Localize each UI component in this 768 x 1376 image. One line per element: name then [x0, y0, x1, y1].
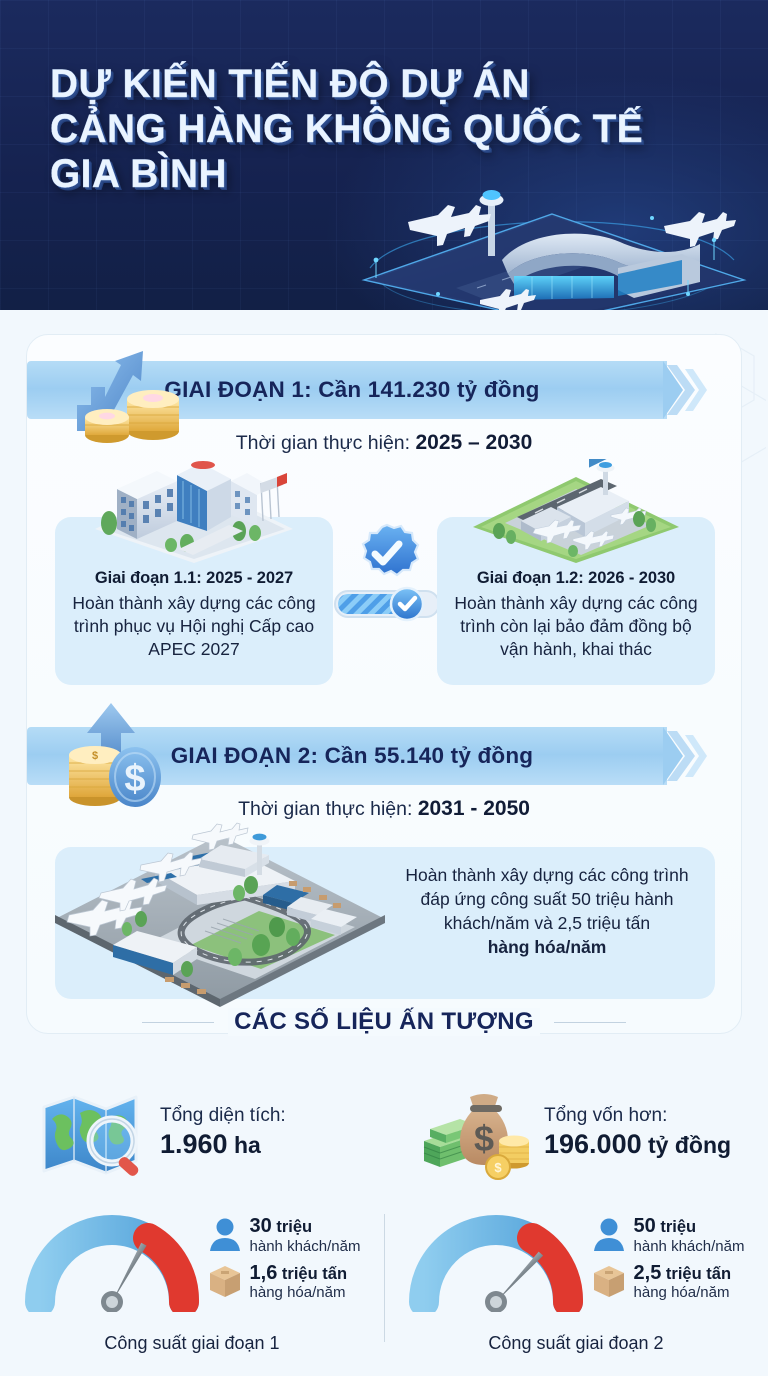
cargo-sub-1: hàng hóa/năm [250, 1284, 348, 1301]
cargo-value-1: 1,6 triệu tấn [250, 1263, 348, 1285]
divider-left [142, 1022, 214, 1023]
title-line-3: GIA BÌNH [50, 152, 643, 197]
stat-total-capital: $ $ Tổng vốn hơn: 196.000 tỷ đồng [384, 1068, 768, 1196]
banner-chevron-icon [663, 361, 689, 419]
cargo-box-icon [208, 1264, 242, 1300]
stat-total-area-value: 1.960 ha [160, 1129, 286, 1160]
cargo-box-icon-2 [592, 1264, 626, 1300]
growth-chart-coins-icon [57, 335, 197, 445]
cargo-unit-2: triệu tấn [661, 1265, 731, 1283]
divider-right [554, 1022, 626, 1023]
phase2-body-text: Hoàn thành xây dựng các công trình đáp ứ… [387, 863, 707, 960]
money-bag-cash-icon: $ $ [420, 1079, 530, 1185]
sub-phase-1-2-box: Giai đoạn 1.2: 2026 - 2030 Hoàn thành xâ… [437, 517, 715, 685]
passenger-value-1: 30 triệu [250, 1216, 361, 1238]
cargo-unit-1: triệu tấn [277, 1265, 347, 1283]
sub-phase-1-1-body: Hoàn thành xây dựng các công trình phục … [67, 592, 321, 661]
phase2-timeline-prefix: Thời gian thực hiện: [238, 798, 418, 820]
money-arrow-up-coins-icon: $ $ [51, 697, 181, 817]
office-building-isometric-icon [79, 459, 309, 567]
phase2-body-line-2: đáp ứng công suất 50 triệu hành [387, 887, 707, 911]
passenger-number-1: 30 [250, 1215, 272, 1237]
stats-section-header: CÁC SỐ LIỆU ẤN TƯỢNG [0, 1008, 768, 1036]
sub-phase-1-2-heading: Giai đoạn 1.2: 2026 - 2030 [447, 569, 705, 588]
stat-total-area: Tổng diện tích: 1.960 ha [0, 1068, 384, 1196]
svg-text:$: $ [494, 1160, 502, 1175]
sub-phase-1-2-body: Hoàn thành xây dựng các công trình còn l… [447, 592, 705, 661]
world-map-magnifier-icon [36, 1079, 146, 1185]
passenger-sub-1: hành khách/năm [250, 1238, 361, 1255]
title-line-2: CẢNG HÀNG KHÔNG QUỐC TẾ [50, 107, 643, 152]
person-icon-2 [592, 1217, 626, 1253]
speedometer-gauge-icon-2 [408, 1208, 584, 1312]
cargo-capacity-2: 2,5 triệu tấn hàng hóa/năm [592, 1263, 745, 1302]
stat-total-area-unit: ha [228, 1132, 261, 1158]
page-title: DỰ KIẾN TIẾN ĐỘ DỰ ÁN CẢNG HÀNG KHÔNG QU… [50, 62, 662, 196]
stat-total-area-label: Tổng diện tích: [160, 1105, 286, 1127]
passenger-unit-2: triệu [656, 1218, 696, 1236]
cargo-sub-2: hàng hóa/năm [634, 1284, 732, 1301]
stat-total-capital-label: Tổng vốn hơn: [544, 1105, 731, 1127]
cargo-number-2: 2,5 [634, 1262, 662, 1284]
phase2-body-line-1: Hoàn thành xây dựng các công trình [387, 863, 707, 887]
phase1-timeline-value: 2025 – 2030 [415, 431, 532, 454]
cargo-value-2: 2,5 triệu tấn [634, 1263, 732, 1285]
phase1-banner-label: GIAI ĐOẠN 1: Cần 141.230 tỷ đồng [164, 377, 539, 403]
header-banner: DỰ KIẾN TIẾN ĐỘ DỰ ÁN CẢNG HÀNG KHÔNG QU… [0, 0, 768, 310]
passenger-sub-2: hành khách/năm [634, 1238, 745, 1255]
airport-complex-isometric-icon [45, 819, 395, 1015]
capacity-row: 30 triệu hành khách/năm 1,6 [0, 1204, 768, 1364]
svg-text:$: $ [124, 758, 145, 800]
stat-total-capital-unit: tỷ đồng [642, 1132, 731, 1158]
passenger-value-2: 50 triệu [634, 1216, 745, 1238]
passenger-unit-1: triệu [272, 1218, 312, 1236]
speedometer-gauge-icon [24, 1208, 200, 1312]
phase2-body-line-3: khách/năm và 2,5 triệu tấn [387, 911, 707, 935]
phases-card: GIAI ĐOẠN 1: Cần 141.230 tỷ đồng [26, 334, 742, 1034]
stats-section-title: CÁC SỐ LIỆU ẤN TƯỢNG [228, 1008, 540, 1036]
capacity-caption-1: Công suất giai đoạn 1 [0, 1333, 384, 1354]
cargo-number-1: 1,6 [250, 1262, 278, 1284]
sub-phase-1-1-box: Giai đoạn 1.1: 2025 - 2027 Hoàn thành xâ… [55, 517, 333, 685]
sub-phase-1-1-heading: Giai đoạn 1.1: 2025 - 2027 [67, 569, 321, 588]
stat-total-area-number: 1.960 [160, 1129, 228, 1159]
stat-total-capital-value: 196.000 tỷ đồng [544, 1129, 731, 1160]
stat-total-capital-number: 196.000 [544, 1129, 642, 1159]
passenger-capacity-1: 30 triệu hành khách/năm [208, 1216, 361, 1255]
phase2-banner-label: GIAI ĐOẠN 2: Cần 55.140 tỷ đồng [171, 743, 534, 769]
banner-chevron-icon-2 [663, 727, 689, 785]
svg-text:$: $ [92, 750, 98, 762]
passenger-number-2: 50 [634, 1215, 656, 1237]
capacity-caption-2: Công suất giai đoạn 2 [384, 1333, 768, 1354]
passenger-capacity-2: 50 triệu hành khách/năm [592, 1216, 745, 1255]
capacity-phase-1: 30 triệu hành khách/năm 1,6 [0, 1204, 384, 1364]
verified-check-progress-icon [333, 521, 441, 633]
phase1-timeline-prefix: Thời gian thực hiện: [236, 432, 416, 454]
person-icon [208, 1217, 242, 1253]
svg-text:$: $ [474, 1118, 494, 1159]
airport-runway-isometric-icon [461, 459, 691, 567]
phase2-timeline-value: 2031 - 2050 [418, 797, 530, 820]
capacity-phase-2: 50 triệu hành khách/năm 2,5 [384, 1204, 768, 1364]
cargo-capacity-1: 1,6 triệu tấn hàng hóa/năm [208, 1263, 361, 1302]
impressive-figures-row: Tổng diện tích: 1.960 ha [0, 1068, 768, 1196]
phase2-body-line-4: hàng hóa/năm [387, 935, 707, 959]
title-line-1: DỰ KIẾN TIẾN ĐỘ DỰ ÁN [50, 62, 643, 107]
